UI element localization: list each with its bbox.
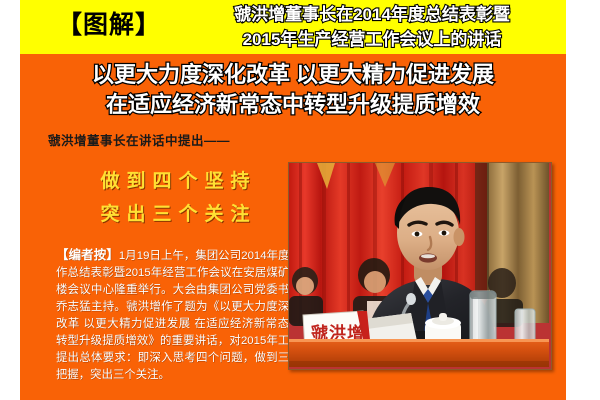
editor-note-label: 【编者按】 <box>56 248 119 262</box>
keypoint-item-1: 做到四个坚持 <box>60 165 290 198</box>
header-title-line-2: 2015年生产经营工作会议上的讲话 <box>180 27 564 52</box>
header-title: 虢洪增董事长在2014年度总结表彰暨 2015年生产经营工作会议上的讲话 <box>180 2 564 52</box>
poster-root: 【图解】 虢洪增董事长在2014年度总结表彰暨 2015年生产经营工作会议上的讲… <box>20 0 566 400</box>
leadin-text: 虢洪增董事长在讲话中提出—— <box>48 130 230 149</box>
conference-photo: 虢洪增 <box>288 162 552 370</box>
main-headline-line-1: 以更大力度深化改革 以更大精力促进发展 <box>20 60 566 90</box>
main-headline-line-2: 在适应经济新常态中转型升级提质增效 <box>20 90 566 120</box>
header-tag-label: 【图解】 <box>34 8 184 42</box>
header-band: 【图解】 虢洪增董事长在2014年度总结表彰暨 2015年生产经营工作会议上的讲… <box>20 0 566 54</box>
main-headline: 以更大力度深化改革 以更大精力促进发展 在适应经济新常态中转型升级提质增效 <box>20 60 566 120</box>
keypoint-item-2: 突出三个关注 <box>60 198 290 231</box>
header-title-line-1: 虢洪增董事长在2014年度总结表彰暨 <box>180 2 564 27</box>
conference-photo-image: 虢洪增 <box>289 163 549 367</box>
keypoints-list: 做到四个坚持 突出三个关注 <box>60 165 290 231</box>
body-paragraph: 【编者按】1月19日上午，集团公司2014年度工作总结表彰暨2015年经营工作会… <box>56 247 301 384</box>
body-paragraph-text: 1月19日上午，集团公司2014年度工作总结表彰暨2015年经营工作会议在安居煤… <box>56 250 301 381</box>
